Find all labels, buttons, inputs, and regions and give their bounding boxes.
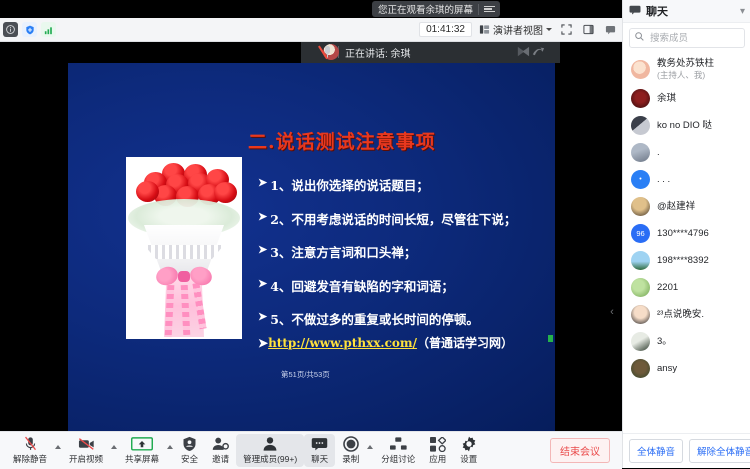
invite-button[interactable]: 邀请	[205, 434, 236, 467]
meeting-controls-toolbar: 解除静音 开启视频 共享屏幕 安全 邀请	[0, 431, 622, 469]
viewing-screen-text: 您正在观看余琪的屏幕	[378, 2, 473, 16]
participant-name: 130****4796	[657, 228, 709, 240]
bullet-text: 2、不用考虑说话的时间长短，尽管往下说；	[270, 209, 516, 228]
top-toolbar-left	[0, 22, 56, 37]
avatar	[631, 278, 650, 297]
list-item[interactable]: .	[623, 139, 750, 166]
list-item[interactable]: 96 130****4796	[623, 220, 750, 247]
participant-name: @赵建祥	[657, 201, 695, 213]
top-toolbar-right: 01:41:32 演讲者视图	[419, 22, 622, 37]
chevron-down-icon[interactable]	[546, 28, 552, 31]
participant-name: 余琪	[657, 93, 676, 105]
bullet-text: 4、回避发音有缺陷的字和词语；	[270, 276, 454, 295]
bullet-arrow-icon: ➤	[258, 242, 267, 257]
search-container	[623, 23, 750, 52]
fullscreen-icon[interactable]	[559, 22, 574, 37]
breakout-rooms-label: 分组讨论	[381, 453, 415, 465]
chat-button[interactable]: 聊天	[304, 434, 335, 467]
list-item[interactable]: ²³点说晚安.	[623, 301, 750, 328]
end-meeting-button[interactable]: 结束会议	[550, 438, 610, 463]
breakout-rooms-icon	[390, 436, 407, 452]
record-icon	[343, 436, 359, 452]
participant-name: 198****8392	[657, 255, 709, 267]
avatar	[631, 197, 650, 216]
bullet-text: 1、说出你选择的说话题目；	[270, 175, 429, 194]
list-item[interactable]: 3。	[623, 328, 750, 355]
list-item[interactable]: 2201	[623, 274, 750, 301]
mic-muted-icon	[23, 436, 38, 452]
participant-name: 2201	[657, 282, 678, 294]
active-speaker-banner: 正在讲话: 余琪	[301, 41, 560, 63]
participants-panel: 聊天 ▾ 教务处苏铁柱 (主持人、我) 余琪	[622, 0, 750, 468]
pill-divider	[478, 4, 479, 15]
avatar	[631, 305, 650, 324]
side-by-side-icon[interactable]	[581, 22, 596, 37]
apps-icon	[430, 436, 446, 452]
manage-participants-label: 管理成员(99+)	[243, 453, 297, 465]
settings-label: 设置	[460, 453, 477, 465]
bullet-text: 3、注意方言词和口头禅；	[270, 242, 416, 261]
avatar	[631, 89, 650, 108]
start-video-label: 开启视频	[69, 453, 103, 465]
share-screen-button[interactable]: 共享屏幕	[118, 434, 166, 467]
gear-icon	[461, 436, 477, 452]
more-icon[interactable]: ▾	[740, 6, 745, 17]
invite-person-icon	[212, 436, 229, 452]
video-off-icon	[78, 436, 95, 452]
bullet-arrow-icon: ➤	[258, 276, 267, 291]
participant-name: 教务处苏铁柱	[657, 58, 714, 70]
list-item[interactable]: ansy	[623, 355, 750, 382]
mute-all-button[interactable]: 全体静音	[629, 439, 683, 463]
shield-icon	[182, 436, 197, 452]
chat-label: 聊天	[311, 453, 328, 465]
shield-icon[interactable]	[22, 22, 37, 37]
list-item: ➤ 3、注意方言词和口头禅；	[258, 242, 538, 261]
settings-button[interactable]: 设置	[453, 434, 484, 467]
share-screen-label: 共享屏幕	[125, 453, 159, 465]
chat-icon[interactable]	[603, 22, 618, 37]
slide-link-line: ➤http://www.pthxx.com/（普通话学习网）	[258, 334, 513, 351]
participant-role: (主持人、我)	[657, 70, 714, 81]
meeting-window: 您正在观看余琪的屏幕 01:41:32 演讲者视图	[0, 0, 750, 468]
bullet-text: 5、不做过多的重复或长时间的停顿。	[270, 309, 479, 328]
speaker-view-icon	[479, 24, 490, 35]
apps-label: 应用	[429, 453, 446, 465]
record-options-chevron-icon[interactable]	[367, 445, 373, 449]
video-options-chevron-icon[interactable]	[111, 445, 117, 449]
list-item[interactable]: ko no DIO 哒	[623, 112, 750, 139]
list-item[interactable]: 余琪	[623, 85, 750, 112]
share-options-chevron-icon[interactable]	[167, 445, 173, 449]
breakout-rooms-button[interactable]: 分组讨论	[374, 434, 422, 467]
avatar	[631, 359, 650, 378]
avatar: 96	[631, 224, 650, 243]
slide-bullet-list: ➤ 1、说出你选择的说话题目； ➤ 2、不用考虑说话的时间长短，尽管往下说； ➤…	[258, 175, 538, 343]
list-item[interactable]: • . . .	[623, 166, 750, 193]
avatar	[631, 143, 650, 162]
list-item[interactable]: @赵建祥	[623, 193, 750, 220]
security-button[interactable]: 安全	[174, 434, 205, 467]
bullet-arrow-icon: ➤	[258, 336, 268, 350]
chat-bubble-icon	[311, 436, 328, 452]
unmute-label: 解除静音	[13, 453, 47, 465]
avatar	[631, 116, 650, 135]
panel-header: 聊天 ▾	[623, 0, 750, 23]
invite-label: 邀请	[212, 453, 229, 465]
participant-name: .	[657, 147, 660, 159]
list-item: ➤ 4、回避发音有缺陷的字和词语；	[258, 276, 538, 295]
participants-icon	[262, 436, 278, 452]
list-item: ➤ 5、不做过多的重复或长时间的停顿。	[258, 309, 538, 328]
search-icon	[635, 32, 644, 44]
viewing-screen-banner: 您正在观看余琪的屏幕	[372, 1, 500, 17]
search-box[interactable]	[629, 28, 745, 48]
panel-footer: 全体静音 解除全体静音	[623, 433, 750, 468]
security-label: 安全	[181, 453, 198, 465]
screen-share-area: 二.说话测试注意事项	[0, 63, 622, 431]
bullet-arrow-icon: ➤	[258, 209, 267, 224]
share-screen-icon	[131, 436, 153, 452]
hamburger-icon[interactable]	[484, 6, 497, 13]
bullet-arrow-icon: ➤	[258, 175, 267, 190]
meeting-timer: 01:41:32	[419, 22, 472, 37]
avatar	[631, 60, 650, 79]
participant-name: . . .	[657, 174, 670, 186]
list-item[interactable]: 教务处苏铁柱 (主持人、我)	[623, 54, 750, 85]
rose-bouquet-photo	[126, 157, 242, 339]
avatar	[631, 332, 650, 351]
participant-name: ansy	[657, 363, 677, 375]
participant-name: ²³点说晚安.	[657, 309, 704, 321]
active-speaker-label: 正在讲话: 余琪	[345, 45, 411, 60]
mic-muted-icon	[323, 45, 332, 59]
audio-options-chevron-icon[interactable]	[55, 445, 61, 449]
presentation-slide: 二.说话测试注意事项	[68, 63, 555, 431]
list-item: ➤ 1、说出你选择的说话题目；	[258, 175, 538, 194]
view-mode-selector[interactable]: 演讲者视图	[479, 22, 552, 37]
panel-title: 聊天	[646, 3, 668, 19]
green-cursor-marker	[548, 335, 553, 342]
view-mode-label: 演讲者视图	[493, 22, 543, 37]
screen-share-arrows-icon	[514, 44, 546, 59]
manage-participants-button[interactable]: 管理成员(99+)	[236, 434, 304, 467]
chat-icon	[629, 5, 641, 18]
unmute-button[interactable]: 解除静音	[6, 434, 54, 467]
apps-button[interactable]: 应用	[422, 434, 453, 467]
pthxx-link[interactable]: http://www.pthxx.com/	[268, 336, 417, 350]
unmute-all-button[interactable]: 解除全体静音	[689, 439, 750, 463]
bullet-arrow-icon: ➤	[258, 309, 267, 324]
list-item[interactable]: 198****8392	[623, 247, 750, 274]
signal-icon[interactable]	[41, 22, 56, 37]
participants-list[interactable]: 教务处苏铁柱 (主持人、我) 余琪 ko no DIO 哒 . • . . .	[623, 52, 750, 433]
search-input[interactable]	[648, 32, 739, 45]
info-icon[interactable]	[3, 22, 18, 37]
slide-title: 二.说话测试注意事项	[248, 127, 436, 154]
participant-name: 3。	[657, 336, 672, 348]
avatar	[631, 251, 650, 270]
start-video-button[interactable]: 开启视频	[62, 434, 110, 467]
top-toolbar: 01:41:32 演讲者视图	[0, 18, 622, 42]
participant-name: ko no DIO 哒	[657, 120, 712, 132]
list-item: ➤ 2、不用考虑说话的时间长短，尽管往下说；	[258, 209, 538, 228]
avatar: •	[631, 170, 650, 189]
slide-link-note: （普通话学习网）	[417, 336, 513, 350]
record-label: 录制	[342, 453, 359, 465]
collapse-panel-icon[interactable]: ‹	[607, 297, 617, 327]
slide-page-number: 第51页/共53页	[281, 369, 330, 380]
record-button[interactable]: 录制	[335, 434, 366, 467]
